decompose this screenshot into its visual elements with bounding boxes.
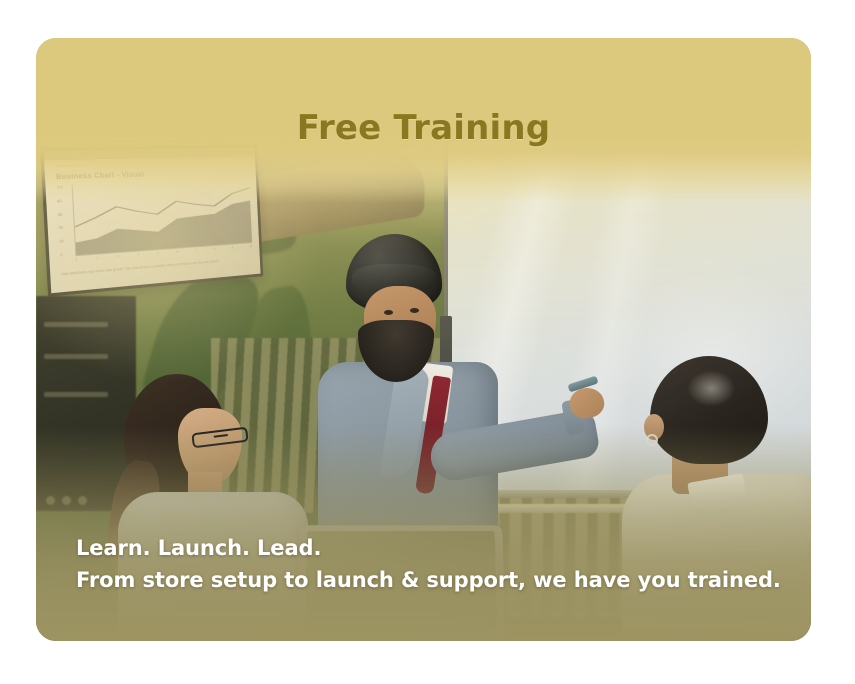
chart-ytick: 0 [60, 253, 67, 258]
caption-line-1: Learn. Launch. Lead. [76, 533, 796, 565]
equipment-slot [44, 322, 108, 327]
chart-xtick: 6 [176, 250, 178, 254]
caption-block: Learn. Launch. Lead. From store setup to… [76, 533, 796, 597]
page-root: Quarterly Report Business Chart - Visual… [0, 0, 855, 684]
attendee-woman-figure [106, 368, 326, 641]
earring-icon [646, 434, 658, 446]
presenter-eye [410, 308, 419, 313]
chart-xtick: 1 [75, 257, 77, 261]
chart-plot [72, 179, 253, 256]
chart-xtick: 9 [232, 246, 234, 250]
chart-svg [73, 179, 252, 255]
chart-xtick: 3 [117, 254, 119, 258]
chart-ytick: 40 [59, 226, 66, 231]
chart-ytick: 20 [59, 239, 66, 244]
presentation-screen: Quarterly Report Business Chart - Visual… [40, 145, 263, 297]
equipment-slot [44, 354, 108, 359]
chart-xtick: 10 [249, 244, 252, 248]
chart-xtick: 2 [97, 256, 99, 260]
presenter-eye [384, 310, 393, 315]
chart-xtick: 4 [137, 253, 139, 257]
equipment-knobs [46, 496, 87, 505]
equipment-slot [44, 392, 108, 397]
chart-area: 100 80 60 40 20 0 12345678910 [56, 179, 252, 268]
page-title: Free Training [36, 108, 811, 148]
chart-y-axis: 100 80 60 40 20 0 [56, 185, 66, 257]
attendee-student-figure [616, 356, 811, 641]
chart-xtick: 8 [214, 247, 216, 251]
caption-line-2: From store setup to launch & support, we… [76, 565, 796, 597]
chart-xtick: 7 [195, 248, 197, 252]
free-training-promo-card[interactable]: Quarterly Report Business Chart - Visual… [36, 38, 811, 641]
chart-ytick: 60 [58, 212, 65, 217]
chart-ytick: 80 [57, 199, 64, 204]
chart-ytick: 100 [56, 185, 63, 189]
chart-xtick: 5 [157, 251, 159, 255]
student-hair [650, 356, 768, 464]
